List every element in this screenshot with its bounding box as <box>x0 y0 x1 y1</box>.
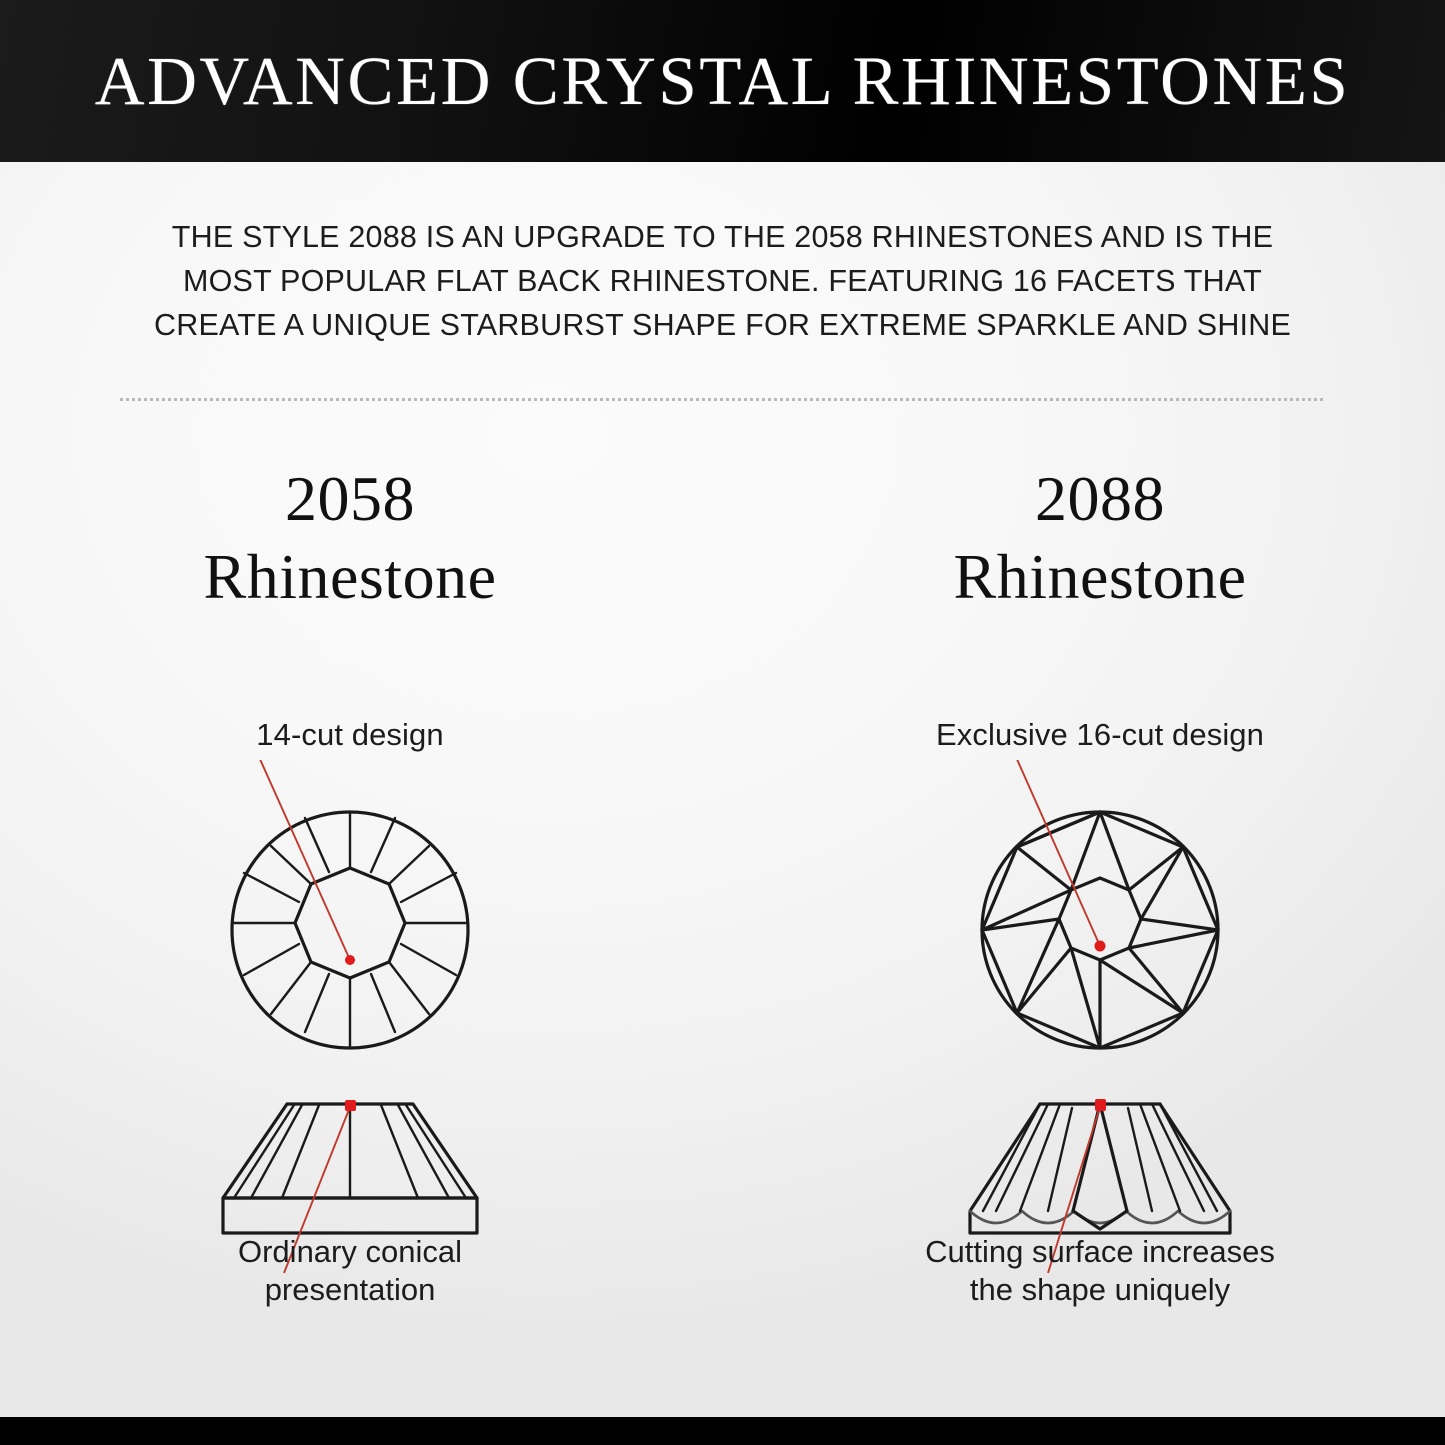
side-view-caption-2058: Ordinary conical presentation <box>30 1233 670 1309</box>
crystal-top-view-2088 <box>940 760 1260 1065</box>
leader-line <box>255 760 350 960</box>
column-title-word: Rhinestone <box>30 538 670 616</box>
starburst-facet-crystal-top-view-icon <box>940 760 1260 1060</box>
leader-marker-dot <box>345 1100 356 1111</box>
comparison-column-2058: 2058 Rhinestone 14-cut design <box>30 460 670 1330</box>
leader-marker-dot <box>1095 941 1106 952</box>
header-banner: ADVANCED CRYSTAL RHINESTONES <box>0 0 1445 162</box>
column-title-word: Rhinestone <box>780 538 1420 616</box>
caption-line-1: Ordinary conical <box>30 1233 670 1271</box>
column-title-number: 2058 <box>30 460 670 538</box>
column-title-2058: 2058 Rhinestone <box>30 460 670 616</box>
crystal-top-view-2058 <box>190 760 510 1065</box>
footer-bar <box>0 1417 1445 1445</box>
radial-facet-crystal-top-view-icon <box>190 760 510 1060</box>
infographic-page: ADVANCED CRYSTAL RHINESTONES THE STYLE 2… <box>0 0 1445 1445</box>
caption-line-1: Cutting surface increases <box>780 1233 1420 1271</box>
comparison-column-2088: 2088 Rhinestone Exclusive 16-cut design <box>780 460 1420 1330</box>
cut-design-label-2058: 14-cut design <box>30 717 670 753</box>
column-title-number: 2088 <box>780 460 1420 538</box>
leader-marker-dot <box>345 955 355 965</box>
intro-line-1: THE STYLE 2088 IS AN UPGRADE TO THE 2058… <box>110 215 1335 259</box>
caption-line-2: presentation <box>30 1271 670 1309</box>
intro-line-3: CREATE A UNIQUE STARBURST SHAPE FOR EXTR… <box>110 303 1335 347</box>
leader-marker-dot <box>1095 1099 1106 1111</box>
page-title: ADVANCED CRYSTAL RHINESTONES <box>95 42 1351 121</box>
dotted-divider <box>120 398 1325 401</box>
caption-line-2: the shape uniquely <box>780 1271 1420 1309</box>
side-view-caption-2088: Cutting surface increases the shape uniq… <box>780 1233 1420 1309</box>
intro-paragraph: THE STYLE 2088 IS AN UPGRADE TO THE 2058… <box>110 215 1335 347</box>
cut-design-label-2088: Exclusive 16-cut design <box>780 717 1420 753</box>
column-title-2088: 2088 Rhinestone <box>780 460 1420 616</box>
intro-line-2: MOST POPULAR FLAT BACK RHINESTONE. FEATU… <box>110 259 1335 303</box>
